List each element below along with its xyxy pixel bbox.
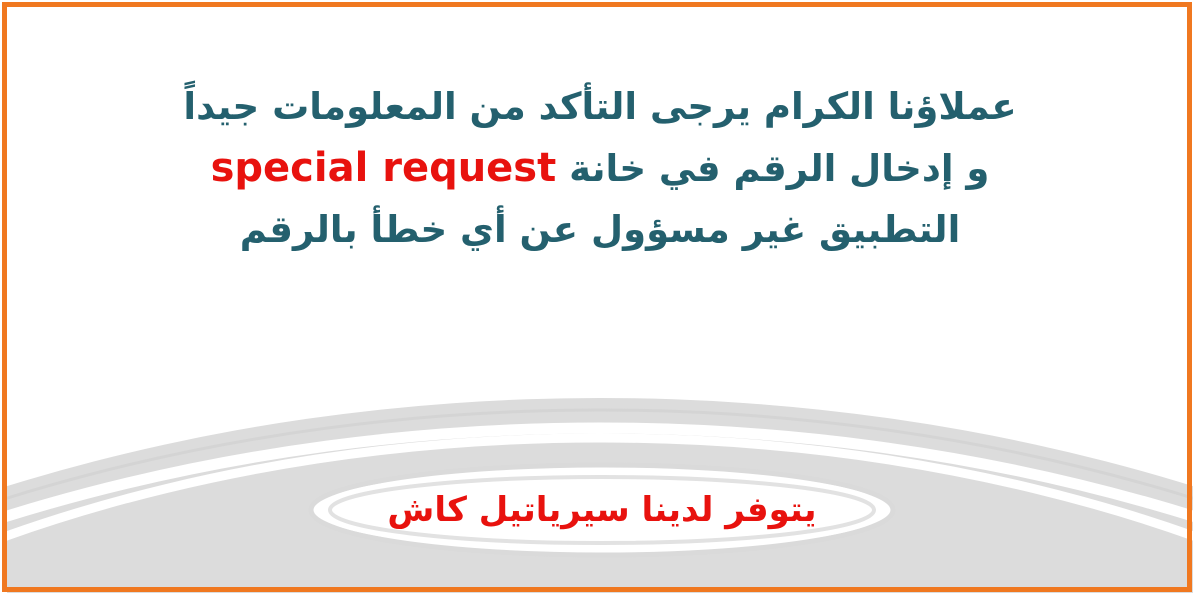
special-request-keyword: special request xyxy=(211,148,557,188)
headline-line-3: التطبيق غير مسؤول عن أي خطأ بالرقم xyxy=(0,211,1200,248)
syriatel-cash-badge: يتوفر لدينا سيرياتيل كاش xyxy=(307,462,897,558)
headline-line-2: و إدخال الرقم في خانة special request xyxy=(0,148,1200,188)
promo-banner: عملاؤنا الكرام يرجى التأكد من المعلومات … xyxy=(0,0,1200,600)
headline-line-2-text: و إدخال الرقم في خانة xyxy=(569,147,989,190)
headline-line-1: عملاؤنا الكرام يرجى التأكد من المعلومات … xyxy=(0,88,1200,125)
badge-label: يتوفر لدينا سيرياتيل كاش xyxy=(307,462,897,558)
headline-block: عملاؤنا الكرام يرجى التأكد من المعلومات … xyxy=(0,88,1200,248)
